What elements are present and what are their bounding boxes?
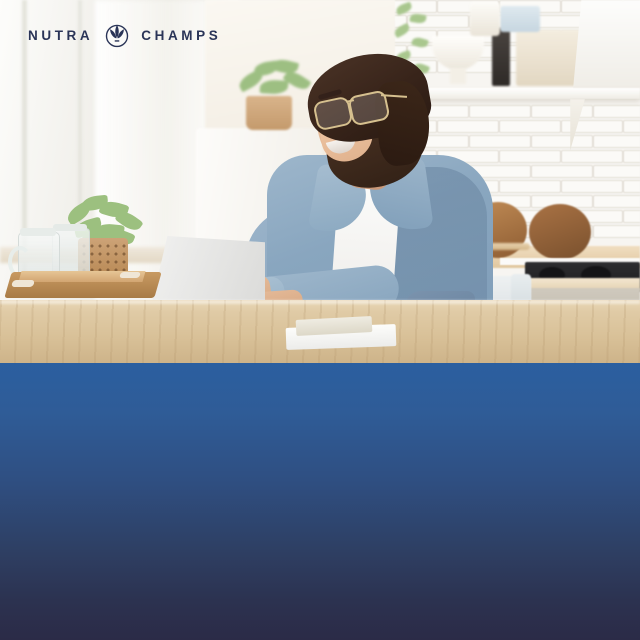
tray-handle-right [119, 272, 141, 278]
lifestyle-photo: NUTRA CHAMPS [0, 0, 640, 364]
brand-name-right: CHAMPS [141, 28, 221, 43]
shelf-jug [470, 2, 500, 36]
lotus-mark-icon [102, 20, 132, 50]
range-hood [572, 0, 640, 100]
promo-graphic: NUTRA CHAMPS Enhanced Mood improve serot… [0, 0, 640, 640]
shelf-plate [500, 6, 540, 32]
tray-handle-left [11, 280, 35, 287]
brand-logo: NUTRA CHAMPS [28, 20, 221, 50]
countertop-edge [0, 300, 640, 304]
glass-jar-lid [53, 224, 87, 231]
person-using-laptop [255, 55, 495, 340]
brand-name-left: NUTRA [28, 28, 93, 43]
benefits-panel: Enhanced Mood improve serotonin producti… [0, 363, 640, 640]
glass-jar-lid [20, 228, 56, 236]
